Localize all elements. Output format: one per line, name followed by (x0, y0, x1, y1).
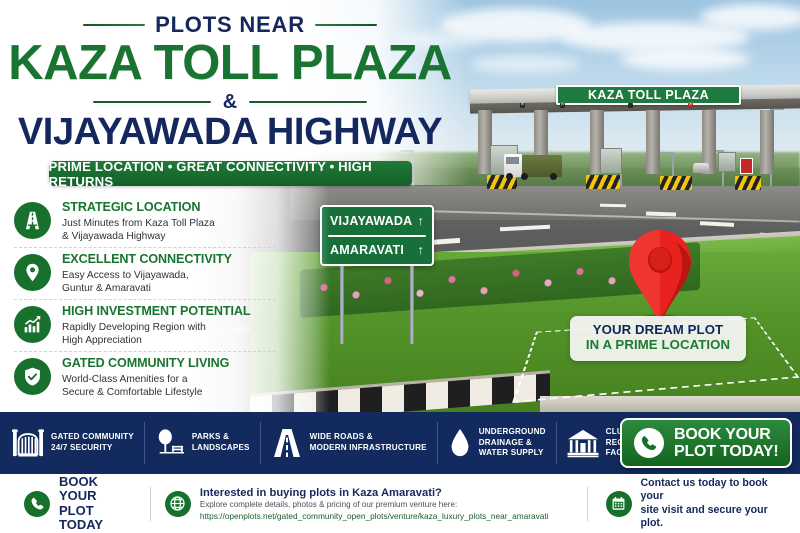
amenity-line-3: WATER SUPPLY (479, 448, 544, 457)
feature-body-line-1: Easy Access to Vijayawada, (62, 270, 189, 281)
amenity-line-1: PARKS & (192, 432, 229, 441)
barrier-stripe (660, 176, 692, 190)
up-arrow-icon: ↑ (418, 243, 424, 257)
book-your-plot-today-button[interactable]: BOOK YOUR PLOT TODAY! (620, 418, 792, 468)
title-line-1: KAZA TOLL PLAZA (0, 39, 460, 89)
toll-booth (718, 152, 736, 172)
growth-chart-icon (14, 306, 51, 343)
rule-right (249, 101, 367, 103)
cloud (470, 55, 580, 73)
eyebrow-row: PLOTS NEAR (0, 12, 460, 38)
amenity-parks-landscapes: PARKS & LANDSCAPES (145, 422, 261, 464)
location-pin-icon (14, 254, 51, 291)
headline-block: PLOTS NEAR KAZA TOLL PLAZA & VIJAYAWADA … (0, 0, 460, 186)
amenities-bar: GATED COMMUNITY 24/7 SECURITY PARKS & LA… (0, 412, 800, 474)
amenity-line-2: LANDSCAPES (192, 443, 250, 452)
book-button-line-2: PLOT TODAY! (674, 443, 778, 460)
feature-body: World-Class Amenities for a Secure & Com… (62, 373, 229, 399)
feature-heading: HIGH INVESTMENT POTENTIAL (62, 305, 251, 319)
calendar-icon (606, 491, 632, 517)
footer-book-line-1: BOOK YOUR (59, 474, 98, 503)
book-button-label: BOOK YOUR PLOT TODAY! (674, 426, 778, 461)
direction-row-amaravati: AMARAVATI ↑ (322, 237, 432, 264)
amenity-line-2: 24/7 SECURITY (51, 443, 113, 452)
feature-item-high-investment-potential: HIGH INVESTMENT POTENTIAL Rapidly Develo… (14, 299, 276, 351)
footer-venture-heading: Interested in buying plots in Kaza Amara… (200, 487, 549, 499)
lane-status-x: × (520, 103, 525, 108)
feature-heading: STRATEGIC LOCATION (62, 201, 215, 215)
feature-body-line-2: & Vijayawada Highway (62, 231, 165, 242)
feature-body: Just Minutes from Kaza Toll Plaza & Vija… (62, 217, 215, 243)
amenity-underground-drainage: UNDERGROUND DRAINAGE & WATER SUPPLY (438, 422, 557, 464)
amenity-label: PARKS & LANDSCAPES (192, 432, 250, 454)
footer-venture-block[interactable]: Interested in buying plots in Kaza Amara… (151, 484, 561, 524)
amenity-wide-roads: WIDE ROADS & MODERN INFRASTRUCTURE (261, 422, 438, 464)
amenity-line-1: WIDE ROADS & (310, 432, 373, 441)
hazard-sign (740, 158, 753, 174)
footer-book-block[interactable]: BOOK YOUR PLOT TODAY (0, 484, 150, 524)
cloud (620, 48, 750, 70)
feature-list: STRATEGIC LOCATION Just Minutes from Kaz… (14, 196, 276, 403)
toll-pillar (760, 110, 774, 174)
feature-body-line-1: Rapidly Developing Region with (62, 322, 206, 333)
title-line-2: VIJAYAWADA HIGHWAY (0, 113, 460, 153)
toll-pillar (646, 110, 660, 174)
book-button-line-1: BOOK YOUR (674, 426, 771, 443)
truck-wheel (550, 173, 557, 180)
poster-root: × × × KAZA TOLL PLAZA (0, 0, 800, 533)
truck-windshield (506, 157, 519, 164)
sign-post (410, 266, 414, 344)
up-arrow-icon: ↑ (418, 214, 424, 228)
gate-icon (12, 428, 44, 458)
toll-booth (600, 148, 622, 174)
highway-direction-sign: VIJAYAWADA ↑ AMARAVATI ↑ (320, 205, 434, 266)
truck-wheel (506, 173, 513, 180)
feature-body-line-2: High Appreciation (62, 335, 142, 346)
feature-body-line-1: Just Minutes from Kaza Toll Plaza (62, 218, 215, 229)
tagline-banner: PRIME LOCATION • GREAT CONNECTIVITY • HI… (49, 161, 412, 186)
footer-book-label: BOOK YOUR PLOT TODAY (59, 475, 138, 532)
car (693, 163, 709, 173)
direction-label: VIJAYAWADA (330, 214, 412, 228)
amenity-label: WIDE ROADS & MODERN INFRASTRUCTURE (310, 432, 427, 454)
road-icon (271, 427, 303, 459)
footer-venture-subtext: Explore complete details, photos & prici… (200, 500, 549, 509)
amenity-line-1: UNDERGROUND (479, 427, 546, 436)
amenity-line-2: MODERN INFRASTRUCTURE (310, 443, 427, 452)
amenity-label: UNDERGROUND DRAINAGE & WATER SUPPLY (479, 427, 546, 460)
feature-body: Rapidly Developing Region with High Appr… (62, 321, 251, 347)
location-pin-marker (624, 228, 696, 326)
shield-check-icon (14, 358, 51, 395)
callout-line-2: IN A PRIME LOCATION (576, 338, 740, 353)
truck-wheel (521, 173, 528, 180)
feature-body-line-2: Secure & Comfortable Lifestyle (62, 387, 202, 398)
rule-left (83, 24, 145, 27)
feature-item-excellent-connectivity: EXCELLENT CONNECTIVITY Easy Access to Vi… (14, 247, 276, 299)
footer-contact-line-1: Contact us today to book your (641, 477, 768, 502)
feature-heading: GATED COMMUNITY LIVING (62, 357, 229, 371)
amenity-line-2: DRAINAGE & (479, 438, 532, 447)
rule-left (93, 101, 211, 103)
amenity-label: GATED COMMUNITY 24/7 SECURITY (51, 432, 134, 454)
phone-icon (634, 428, 664, 458)
rule-right (315, 24, 377, 27)
direction-row-vijayawada: VIJAYAWADA ↑ (322, 208, 432, 235)
globe-icon (165, 491, 191, 517)
lane-dash (600, 204, 626, 207)
footer-venture-text: Interested in buying plots in Kaza Amara… (200, 487, 549, 521)
feature-body-line-1: World-Class Amenities for a (62, 374, 188, 385)
kaza-toll-plaza-sign: KAZA TOLL PLAZA (556, 85, 741, 105)
barrier-stripe (735, 176, 761, 190)
feature-item-gated-community-living: GATED COMMUNITY LIVING World-Class Ameni… (14, 351, 276, 403)
highway-road-icon (14, 202, 51, 239)
feature-item-strategic-location: STRATEGIC LOCATION Just Minutes from Kaz… (14, 196, 276, 247)
eyebrow-text: PLOTS NEAR (155, 12, 305, 38)
footer-contact-text: Contact us today to book your site visit… (641, 477, 788, 530)
feature-body: Easy Access to Vijayawada, Guntur & Amar… (62, 269, 232, 295)
dream-plot-callout: YOUR DREAM PLOT IN A PRIME LOCATION (570, 316, 746, 361)
feature-heading: EXCELLENT CONNECTIVITY (62, 253, 232, 267)
water-drop-icon (448, 428, 472, 458)
phone-icon (24, 491, 50, 517)
amenity-line-1: GATED COMMUNITY (51, 432, 134, 441)
tree-bench-icon (155, 428, 185, 458)
footer-venture-url[interactable]: https://openplots.net/gated_community_op… (200, 511, 549, 521)
footer-contact-line-2: site visit and secure your plot. (641, 504, 768, 529)
footpath (540, 396, 800, 412)
barrier-stripe (586, 175, 620, 189)
lane-status-light (628, 103, 633, 108)
footer-bar: BOOK YOUR PLOT TODAY Interested in buyin… (0, 474, 800, 533)
direction-label: AMARAVATI (330, 243, 404, 257)
clubhouse-icon (567, 428, 599, 458)
lane-status-x: × (560, 103, 565, 108)
footer-book-line-2: PLOT TODAY (59, 503, 103, 532)
amenity-gated-community: GATED COMMUNITY 24/7 SECURITY (0, 422, 145, 464)
cloud (700, 4, 800, 30)
lane-status-x-red: × (688, 103, 693, 108)
callout-line-1: YOUR DREAM PLOT (576, 323, 740, 338)
sign-post (340, 266, 344, 344)
feature-body-line-2: Guntur & Amaravati (62, 283, 151, 294)
footer-contact-block: Contact us today to book your site visit… (588, 484, 800, 524)
